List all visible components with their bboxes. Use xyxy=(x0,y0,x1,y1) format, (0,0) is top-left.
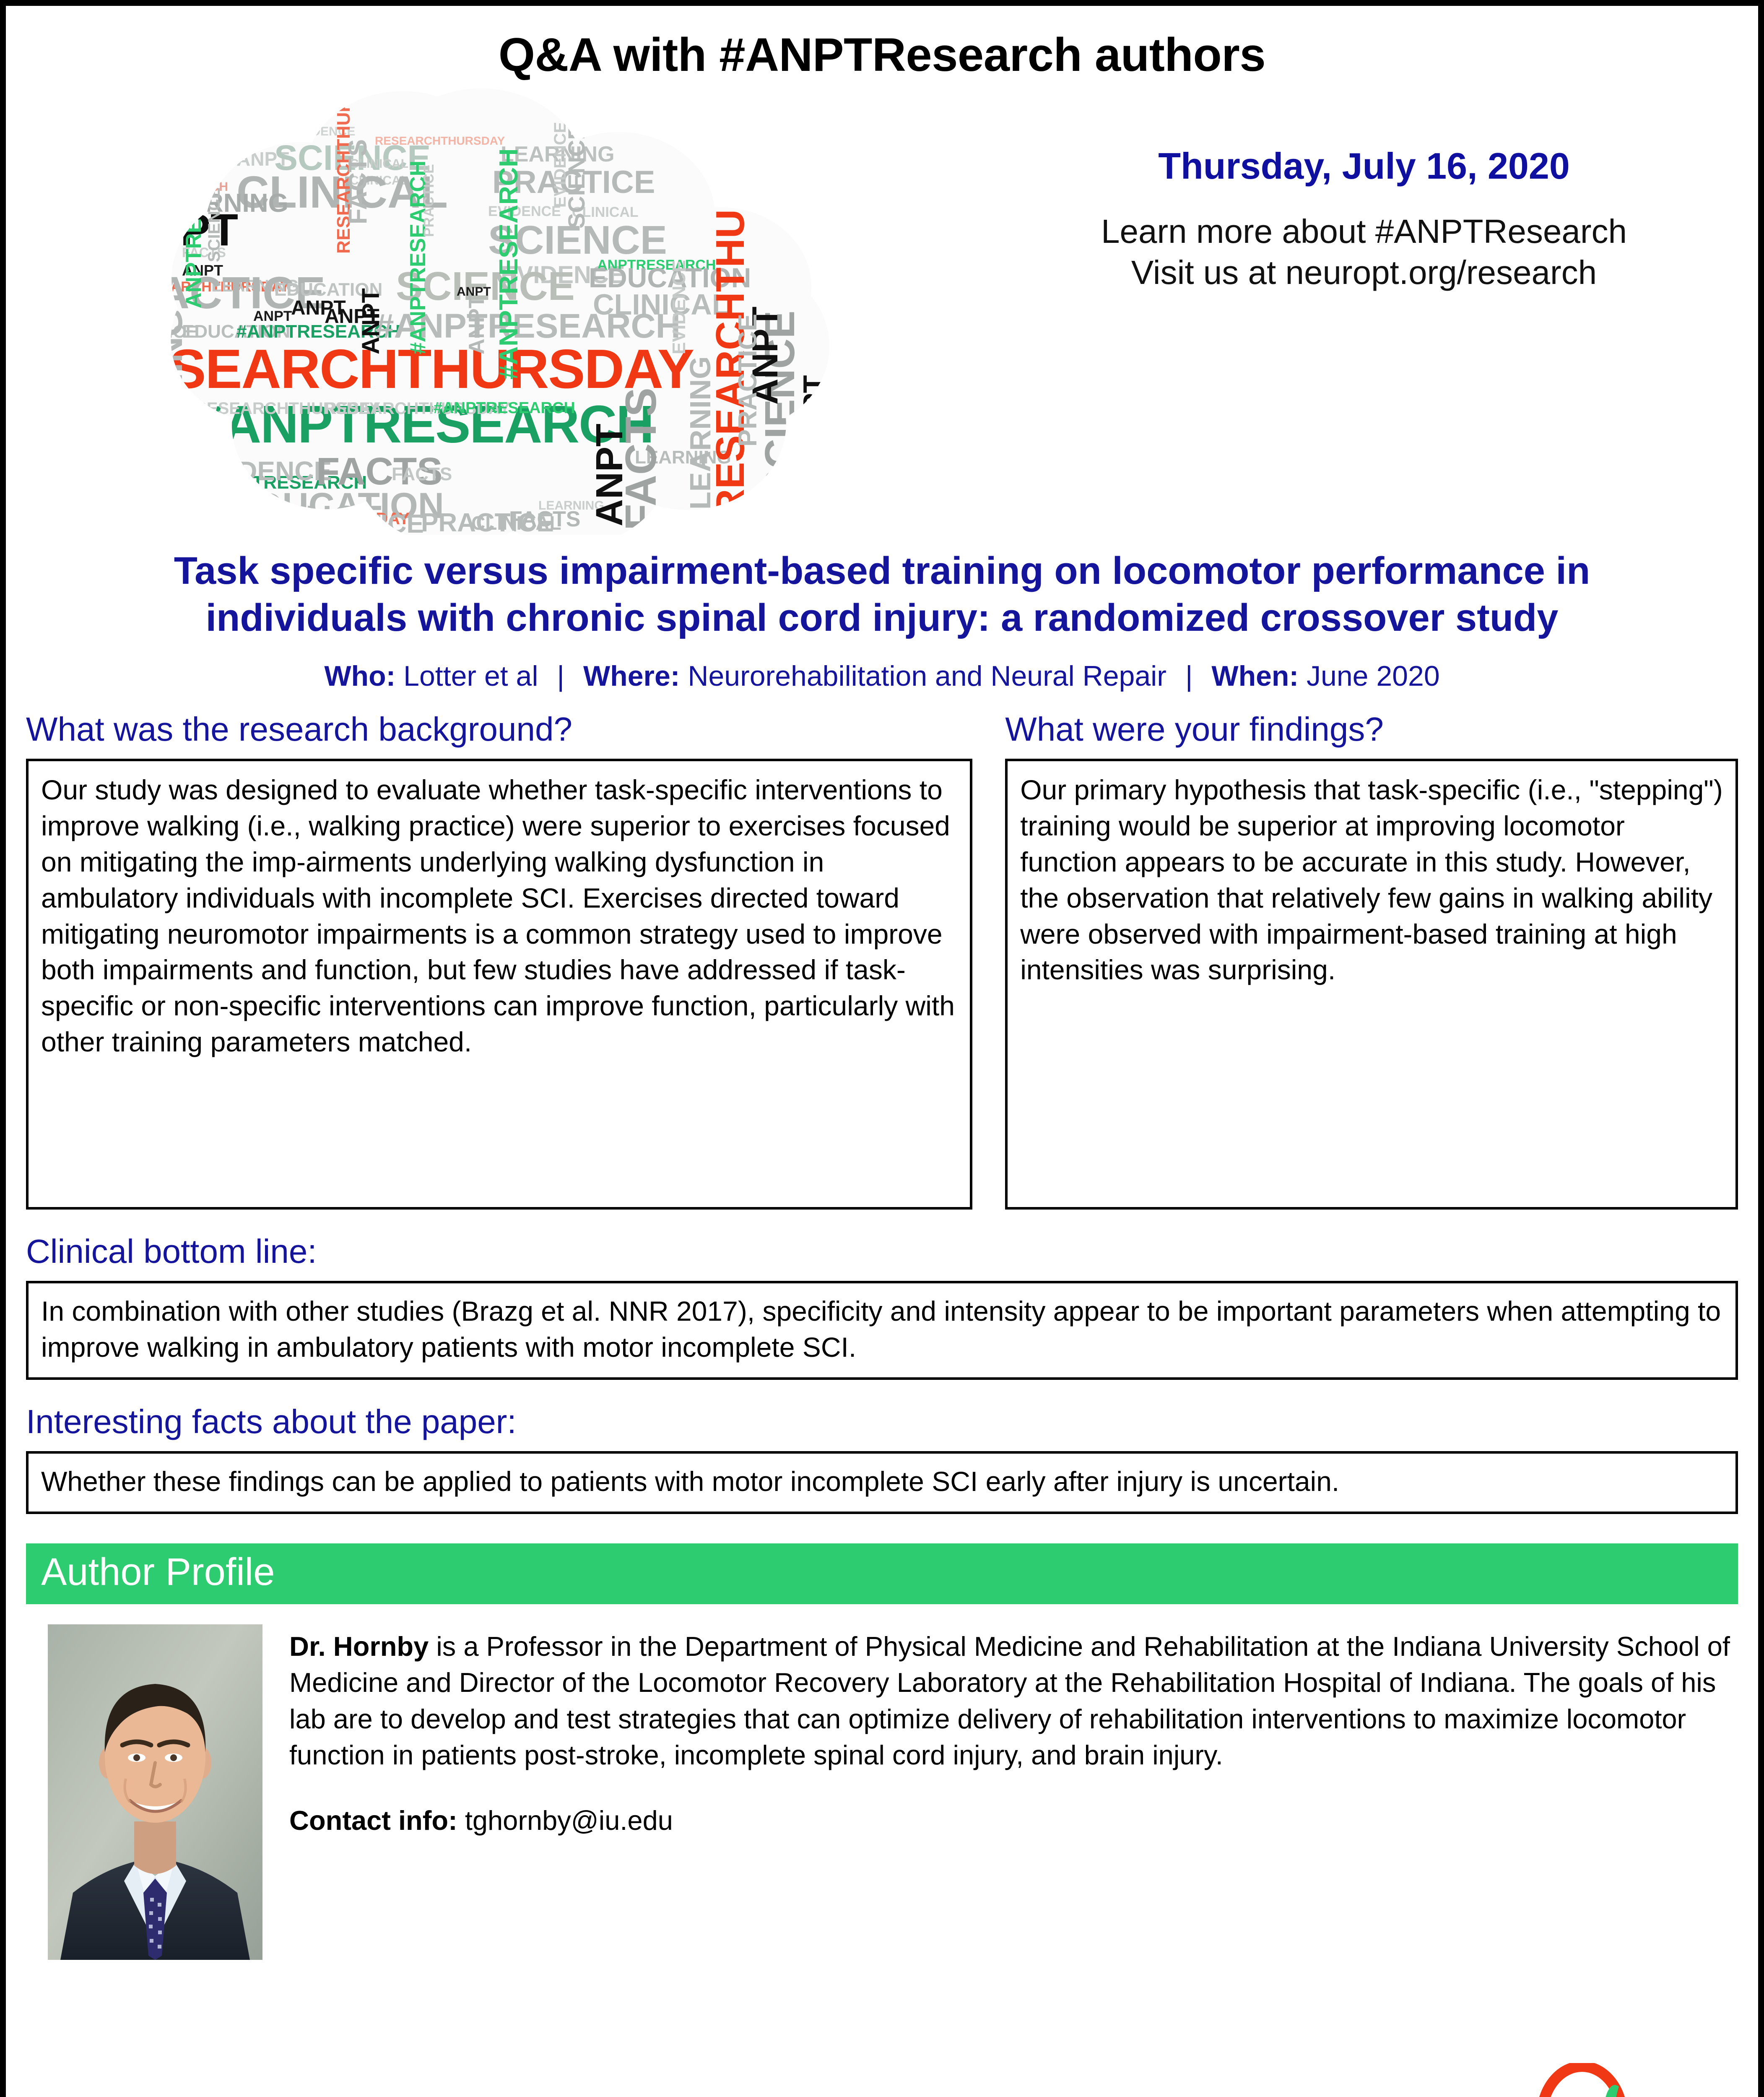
interesting-facts-heading: Interesting facts about the paper: xyxy=(26,1403,1738,1451)
where-label: Where: xyxy=(583,660,680,692)
who-value: Lotter et al xyxy=(403,660,538,692)
svg-text:FACTS: FACTS xyxy=(224,125,265,139)
svg-text:CLINICAL: CLINICAL xyxy=(119,484,197,503)
research-background-answer: Our study was designed to evaluate wheth… xyxy=(26,759,972,1210)
svg-text:PRACTICE: PRACTICE xyxy=(291,510,424,535)
svg-text:SCIENCE: SCIENCE xyxy=(142,169,166,266)
findings-heading: What were your findings? xyxy=(1005,711,1738,759)
svg-text:ANPT: ANPT xyxy=(81,383,186,426)
qa-section: What was the research background? Our st… xyxy=(6,692,1758,1210)
when-label: When: xyxy=(1211,660,1299,692)
author-name: Dr. Hornby xyxy=(289,1631,429,1662)
paper-title: Task specific versus impairment-based tr… xyxy=(6,539,1758,641)
author-headshot xyxy=(48,1624,262,1960)
svg-text:SCIENCE: SCIENCE xyxy=(205,187,223,262)
findings-answer: Our primary hypothesis that task-specifi… xyxy=(1005,759,1738,1210)
clinical-bottom-line-text: In combination with other studies (Brazg… xyxy=(26,1281,1738,1380)
where-value: Neurorehabilitation and Neural Repair xyxy=(688,660,1166,692)
poster-page: Q&A with #ANPTResearch authors FACTS EVI… xyxy=(0,0,1764,2097)
author-bio: Dr. Hornby is a Professor in the Departm… xyxy=(289,1629,1738,1774)
svg-text:EVIDENCE: EVIDENCE xyxy=(669,260,689,354)
svg-text:EVIDENCE: EVIDENCE xyxy=(551,122,569,208)
svg-text:FACTS: FACTS xyxy=(392,464,452,484)
qa-column-background: What was the research background? Our st… xyxy=(26,711,972,1210)
svg-text:EVIDENCE: EVIDENCE xyxy=(195,456,332,486)
paper-title-line-2: individuals with chronic spinal cord inj… xyxy=(44,594,1720,641)
anpt-logo: ACADEMY OF NEUROLOGIC PHYSICAL THERAPY xyxy=(1452,2063,1712,2097)
clinical-bottom-line-heading: Clinical bottom line: xyxy=(26,1233,1738,1281)
header-row: FACTS EVIDENCE RESEARCHTHURSDAY ANPT SCI… xyxy=(6,82,1758,539)
interesting-facts-section: Interesting facts about the paper: Wheth… xyxy=(6,1380,1758,1514)
when-value: June 2020 xyxy=(1307,660,1440,692)
clinical-bottom-line-section: Clinical bottom line: In combination wit… xyxy=(6,1210,1758,1380)
author-text-block: Dr. Hornby is a Professor in the Departm… xyxy=(289,1624,1738,1960)
interesting-facts-text: Whether these findings can be applied to… xyxy=(26,1451,1738,1514)
svg-text:ANPT: ANPT xyxy=(148,398,187,414)
author-contact: Contact info: tghornby@iu.edu xyxy=(289,1774,1738,1836)
author-bio-text: is a Professor in the Department of Phys… xyxy=(289,1631,1730,1770)
svg-text:ANPTRESEARCH: ANPTRESEARCH xyxy=(182,127,206,308)
header-info-block: Thursday, July 16, 2020 Learn more about… xyxy=(1008,145,1720,293)
svg-text:ANPT: ANPT xyxy=(589,424,631,526)
svg-text:FACTS: FACTS xyxy=(343,139,372,224)
svg-text:#ANPTRESEARCH: #ANPTRESEARCH xyxy=(494,148,523,380)
author-profile-body: Dr. Hornby is a Professor in the Departm… xyxy=(6,1604,1758,1960)
svg-text:CLINICAL: CLINICAL xyxy=(161,176,216,189)
svg-text:ANPT: ANPT xyxy=(797,375,830,455)
qa-column-findings: What were your findings? Our primary hyp… xyxy=(1005,711,1738,1210)
svg-text:EVIDENCE: EVIDENCE xyxy=(195,498,383,535)
svg-text:FACTS: FACTS xyxy=(81,444,122,458)
page-title: Q&A with #ANPTResearch authors xyxy=(6,6,1758,82)
svg-text:LEARNING: LEARNING xyxy=(150,309,190,497)
svg-text:CLINICAL: CLINICAL xyxy=(471,512,561,534)
svg-text:FACTS: FACTS xyxy=(78,339,106,421)
svg-text:LEARNING: LEARNING xyxy=(96,319,125,455)
byline-separator-2: | xyxy=(1174,660,1204,692)
svg-text:PRACTICE: PRACTICE xyxy=(733,314,762,447)
svg-text:#ANPTRESEARCH: #ANPTRESEARCH xyxy=(434,399,575,417)
wordcloud-image: FACTS EVIDENCE RESEARCHTHURSDAY ANPT SCI… xyxy=(56,86,886,535)
svg-text:EDUCATION: EDUCATION xyxy=(134,345,168,522)
contact-info-label: Contact info: xyxy=(289,1805,457,1836)
paper-byline: Who: Lotter et al | Where: Neurorehabili… xyxy=(6,641,1758,692)
svg-text:PRACTICE: PRACTICE xyxy=(199,508,276,526)
website-text: Visit us at neuropt.org/research xyxy=(1008,252,1720,293)
author-profile-label: Author Profile xyxy=(41,1551,1723,1593)
svg-text:ANPT: ANPT xyxy=(357,288,384,354)
research-background-heading: What was the research background? xyxy=(26,711,972,759)
svg-text:ANPTRESEARCH: ANPTRESEARCH xyxy=(123,180,228,194)
author-profile-banner: Author Profile xyxy=(26,1543,1738,1604)
svg-text:LEARNING: LEARNING xyxy=(684,356,717,510)
learn-more-text: Learn more about #ANPTResearch xyxy=(1008,211,1720,252)
byline-separator-1: | xyxy=(546,660,575,692)
svg-text:PRACTICE: PRACTICE xyxy=(421,164,437,237)
who-label: Who: xyxy=(324,660,395,692)
paper-title-line-1: Task specific versus impairment-based tr… xyxy=(44,547,1720,594)
svg-text:ANPT: ANPT xyxy=(465,295,489,354)
contact-info-value[interactable]: tghornby@iu.edu xyxy=(465,1805,673,1836)
event-date: Thursday, July 16, 2020 xyxy=(1008,145,1720,187)
svg-text:ANPT: ANPT xyxy=(90,455,153,481)
